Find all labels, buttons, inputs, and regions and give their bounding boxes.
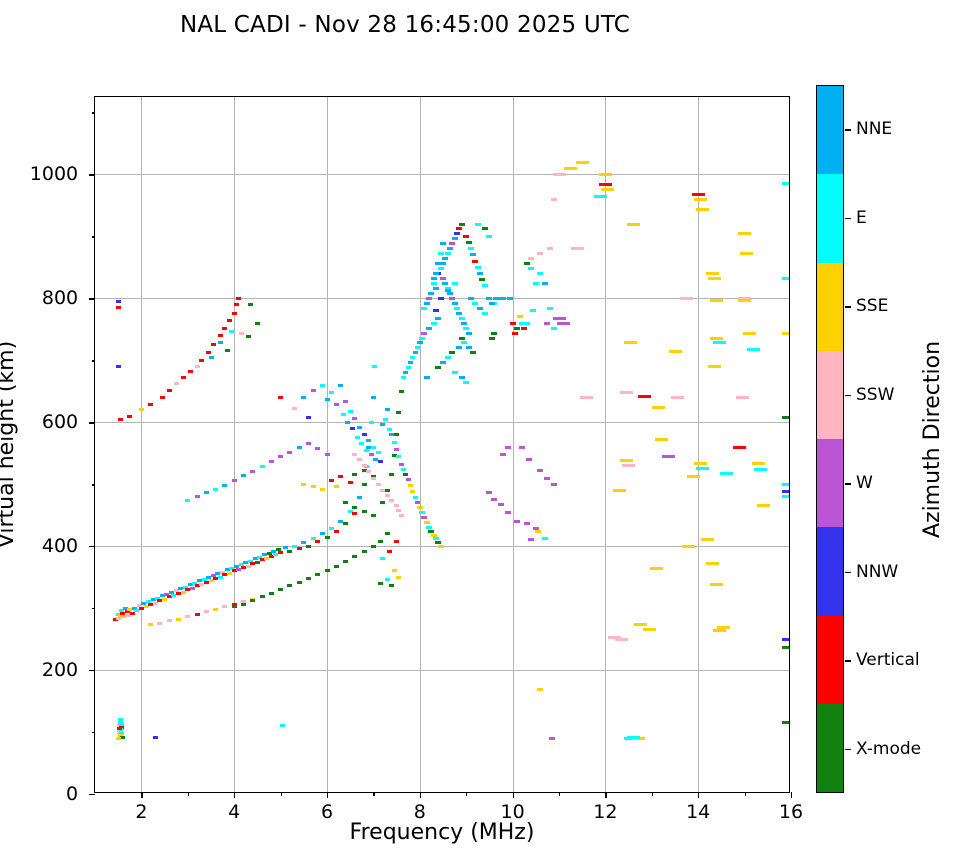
data-point [369, 453, 374, 456]
data-point [599, 173, 612, 176]
data-point [507, 297, 513, 300]
data-point [287, 451, 292, 454]
data-point [421, 332, 427, 335]
data-point [389, 584, 394, 587]
data-point [355, 436, 360, 439]
data-point [378, 540, 383, 543]
data-point [524, 522, 530, 525]
y-tick [89, 298, 95, 299]
data-point [510, 322, 516, 325]
data-point [680, 297, 693, 300]
data-point [426, 526, 432, 529]
data-point [352, 453, 357, 456]
data-point [341, 413, 346, 416]
data-point [185, 499, 190, 502]
colorbar-tick-label: E [856, 208, 867, 228]
data-point [408, 484, 413, 487]
data-point [371, 514, 376, 517]
x-tick [791, 792, 792, 798]
data-point [352, 506, 357, 509]
data-point [239, 332, 244, 335]
data-point [325, 398, 330, 401]
data-point [514, 520, 520, 523]
data-point [153, 736, 158, 739]
data-point [399, 463, 404, 466]
data-point [424, 376, 430, 379]
data-point [537, 252, 543, 255]
data-point [535, 530, 541, 533]
data-point [736, 396, 749, 399]
data-point [505, 446, 511, 449]
data-point [752, 462, 765, 465]
data-point [392, 569, 397, 572]
data-point [461, 322, 467, 325]
y-tick [92, 608, 96, 609]
data-point [343, 522, 348, 525]
data-point [345, 421, 350, 424]
data-point [378, 460, 383, 463]
data-point [222, 327, 227, 330]
data-point [669, 350, 682, 353]
data-point [394, 448, 399, 451]
data-point [380, 501, 385, 504]
data-point [438, 297, 444, 300]
data-point [551, 483, 557, 486]
data-point [754, 468, 767, 471]
data-point [431, 534, 437, 537]
data-point [378, 582, 383, 585]
y-tick [92, 484, 96, 485]
x-tick [373, 792, 374, 796]
data-point [211, 343, 216, 346]
data-point [431, 322, 437, 325]
y-tick-label: 0 [66, 783, 81, 805]
data-point [380, 423, 385, 426]
data-point [435, 366, 441, 369]
colorbar-tick [845, 306, 851, 307]
x-axis-label: Frequency (MHz) [94, 820, 790, 845]
data-point [475, 223, 481, 226]
data-point [482, 227, 488, 230]
data-point [466, 346, 472, 349]
data-point [380, 489, 385, 492]
data-point [620, 391, 633, 394]
data-point [524, 322, 530, 325]
data-point [486, 491, 492, 494]
data-point [325, 453, 330, 456]
data-point [643, 628, 656, 631]
data-point [517, 315, 523, 318]
data-point [438, 545, 444, 548]
data-point [424, 302, 430, 305]
data-point [387, 550, 392, 553]
data-point [452, 237, 458, 240]
data-point [348, 481, 353, 484]
data-point [757, 504, 770, 507]
data-point [424, 521, 430, 524]
data-point [419, 337, 425, 340]
data-point [385, 489, 390, 492]
data-point [720, 472, 733, 475]
ionogram-page: NAL CADI - Nov 28 16:45:00 2025 UTC Virt… [0, 0, 958, 857]
data-point [408, 361, 413, 364]
data-point [218, 341, 223, 344]
data-point [435, 317, 441, 320]
data-point [743, 332, 756, 335]
data-point [662, 455, 675, 458]
data-point [371, 446, 376, 449]
colorbar-segment-nnw [817, 527, 843, 615]
data-point [362, 510, 367, 513]
data-point [733, 446, 746, 449]
data-point [449, 242, 455, 245]
data-point [250, 470, 255, 473]
data-point [553, 317, 566, 320]
data-point [694, 462, 707, 465]
data-point [383, 418, 388, 421]
data-point [348, 410, 353, 413]
colorbar-tick [845, 129, 851, 130]
data-point [366, 439, 371, 442]
data-point [413, 351, 418, 354]
data-point [599, 183, 612, 186]
data-point [551, 198, 557, 201]
colorbar-segment-e [817, 174, 843, 262]
data-point [389, 499, 394, 502]
data-point [338, 475, 343, 478]
data-point [160, 396, 165, 399]
data-point [350, 427, 355, 430]
data-point [278, 551, 283, 554]
data-point [431, 282, 437, 285]
data-point [320, 488, 325, 491]
data-point [498, 503, 504, 506]
data-point [613, 489, 626, 492]
data-point [401, 468, 406, 471]
data-point [433, 309, 439, 312]
data-point [782, 416, 789, 419]
data-point [421, 307, 427, 310]
data-point [477, 307, 483, 310]
data-point [449, 351, 455, 354]
data-point [287, 584, 292, 587]
x-tick [559, 792, 560, 796]
x-tick [652, 792, 653, 796]
data-point [456, 227, 462, 230]
data-point [396, 576, 401, 579]
data-point [442, 257, 448, 260]
data-point [406, 366, 411, 369]
data-point [547, 307, 553, 310]
data-point [301, 483, 306, 486]
data-point [222, 484, 227, 487]
data-point [222, 605, 227, 608]
y-tick-label: 200 [42, 659, 81, 681]
colorbar-segment-x-mode [817, 704, 843, 792]
data-point [292, 407, 297, 410]
data-point [352, 473, 357, 476]
data-point [334, 485, 339, 488]
data-point [366, 470, 371, 473]
data-point [167, 389, 172, 392]
data-point [343, 400, 348, 403]
data-point [620, 459, 633, 462]
data-point [519, 446, 525, 449]
data-point [127, 415, 132, 418]
data-point [461, 341, 467, 344]
data-point [521, 327, 527, 330]
data-point [385, 532, 390, 535]
data-point [241, 603, 246, 606]
data-point [477, 272, 483, 275]
data-point [486, 235, 492, 238]
data-point [269, 592, 274, 595]
data-point [445, 252, 451, 255]
colorbar-tick-label: NNE [856, 119, 892, 139]
data-point [176, 618, 181, 621]
data-point [738, 299, 751, 302]
colorbar-segment-vertical [817, 616, 843, 704]
data-point [782, 483, 789, 486]
colorbar-tick-label: NNW [856, 562, 898, 582]
data-point [493, 297, 499, 300]
data-point [417, 506, 423, 509]
data-point [438, 252, 444, 255]
x-tick [234, 792, 235, 798]
data-point [708, 277, 721, 280]
data-point [232, 605, 237, 608]
data-point [195, 365, 200, 368]
data-point [564, 167, 577, 170]
data-point [260, 465, 265, 468]
data-point [782, 638, 789, 641]
y-tick [92, 236, 96, 237]
data-point [454, 232, 460, 235]
colorbar-segment-ssw [817, 351, 843, 439]
data-point [248, 303, 253, 306]
data-point [601, 188, 614, 191]
data-point [117, 727, 122, 730]
data-point [528, 267, 534, 270]
data-point [638, 395, 651, 398]
data-point [181, 376, 186, 379]
data-point [376, 451, 381, 454]
data-point [352, 417, 357, 420]
data-point [357, 426, 362, 429]
data-point [213, 488, 218, 491]
data-point [431, 277, 437, 280]
data-point [421, 516, 427, 519]
data-point [229, 330, 234, 333]
data-point [297, 581, 302, 584]
data-point [696, 467, 709, 470]
data-point [782, 646, 789, 649]
data-point [449, 297, 455, 300]
data-point [708, 365, 721, 368]
data-point [185, 615, 190, 618]
data-point [459, 337, 465, 340]
data-point [624, 341, 637, 344]
data-point [782, 721, 789, 724]
data-point [682, 545, 695, 548]
data-point [280, 724, 285, 727]
data-point [148, 403, 153, 406]
data-point [551, 327, 557, 330]
x-tick [327, 792, 328, 798]
y-tick [89, 174, 95, 175]
data-point [195, 613, 200, 616]
data-point [419, 511, 425, 514]
data-point [428, 530, 434, 533]
data-point [406, 478, 411, 481]
data-point [413, 496, 418, 499]
data-point [482, 312, 488, 315]
data-point [782, 277, 789, 280]
data-point [489, 337, 495, 340]
data-point [385, 408, 390, 411]
data-point [537, 469, 543, 472]
data-point [329, 479, 334, 482]
colorbar-tick-label: SSW [856, 385, 894, 405]
data-point [396, 509, 401, 512]
y-tick [89, 794, 95, 795]
y-tick-label: 1000 [30, 163, 81, 185]
data-point [417, 341, 423, 344]
data-point [278, 396, 283, 399]
data-point [232, 479, 237, 482]
data-point [696, 208, 709, 211]
colorbar-segment-w [817, 439, 843, 527]
data-point [306, 442, 311, 445]
data-point [491, 498, 497, 501]
data-point [204, 491, 209, 494]
data-point [447, 247, 453, 250]
data-point [119, 723, 124, 726]
data-point [199, 359, 204, 362]
data-point [470, 351, 476, 354]
data-point [650, 567, 663, 570]
data-point [459, 376, 465, 379]
y-tick [92, 732, 96, 733]
data-point [371, 396, 376, 399]
data-point [452, 282, 458, 285]
data-point [537, 688, 543, 691]
data-point [403, 371, 408, 374]
data-point [505, 511, 511, 514]
data-point [528, 538, 534, 541]
colorbar [816, 85, 844, 793]
data-point [738, 232, 751, 235]
x-tick [698, 792, 699, 798]
data-point [454, 307, 460, 310]
data-point [343, 501, 348, 504]
data-point [225, 349, 230, 352]
colorbar-segment-sse [817, 263, 843, 351]
data-point [306, 545, 311, 548]
data-point [433, 272, 439, 275]
data-point [385, 578, 390, 581]
page-title: NAL CADI - Nov 28 16:45:00 2025 UTC [0, 12, 810, 38]
data-point [652, 406, 665, 409]
colorbar-tick [845, 749, 851, 750]
y-tick [92, 360, 96, 361]
data-point [426, 297, 432, 300]
data-point [329, 391, 334, 394]
data-point [206, 351, 211, 354]
data-point [466, 332, 472, 335]
y-tick-label: 800 [42, 287, 81, 309]
data-point [468, 297, 474, 300]
data-point [500, 297, 506, 300]
data-point [371, 545, 376, 548]
data-point [706, 272, 719, 275]
data-point [542, 282, 548, 285]
data-point [442, 282, 448, 285]
data-point [549, 737, 555, 740]
colorbar-segment-nne [817, 86, 843, 174]
data-point [440, 361, 446, 364]
data-point [514, 327, 520, 330]
data-point [426, 327, 432, 330]
data-point [627, 736, 640, 739]
data-point [687, 475, 700, 478]
data-point [234, 303, 239, 306]
data-point [694, 198, 707, 201]
data-point [710, 299, 723, 302]
data-point [440, 277, 446, 280]
colorbar-tick [845, 483, 851, 484]
x-tick [188, 792, 189, 796]
data-point [692, 193, 705, 196]
data-point [362, 550, 367, 553]
data-point [362, 433, 367, 436]
data-point [195, 495, 200, 498]
data-point [352, 555, 357, 558]
data-point [218, 334, 223, 337]
data-point [334, 565, 339, 568]
data-point [371, 477, 376, 480]
data-point [482, 284, 488, 287]
plot-area: 24681012141602004006008001000 [94, 96, 790, 793]
data-point [227, 319, 232, 322]
data-point [713, 629, 726, 632]
data-point [542, 537, 548, 540]
data-point [116, 306, 121, 309]
data-point [232, 312, 237, 315]
data-point [472, 260, 478, 263]
data-point [320, 532, 325, 535]
data-point [410, 490, 415, 493]
data-point [512, 332, 518, 335]
data-point [269, 460, 274, 463]
data-point [782, 495, 789, 498]
data-points-layer [95, 97, 789, 792]
data-point [174, 382, 179, 385]
data-point [255, 322, 260, 325]
data-point [537, 272, 543, 275]
data-point [489, 302, 495, 305]
data-point [399, 514, 404, 517]
data-point [209, 356, 214, 359]
data-point [325, 536, 330, 539]
x-tick [745, 792, 746, 796]
data-point [369, 421, 374, 424]
x-tick [420, 792, 421, 798]
data-point [315, 447, 320, 450]
data-point [428, 292, 434, 295]
data-point [479, 278, 485, 281]
data-point [782, 490, 789, 493]
